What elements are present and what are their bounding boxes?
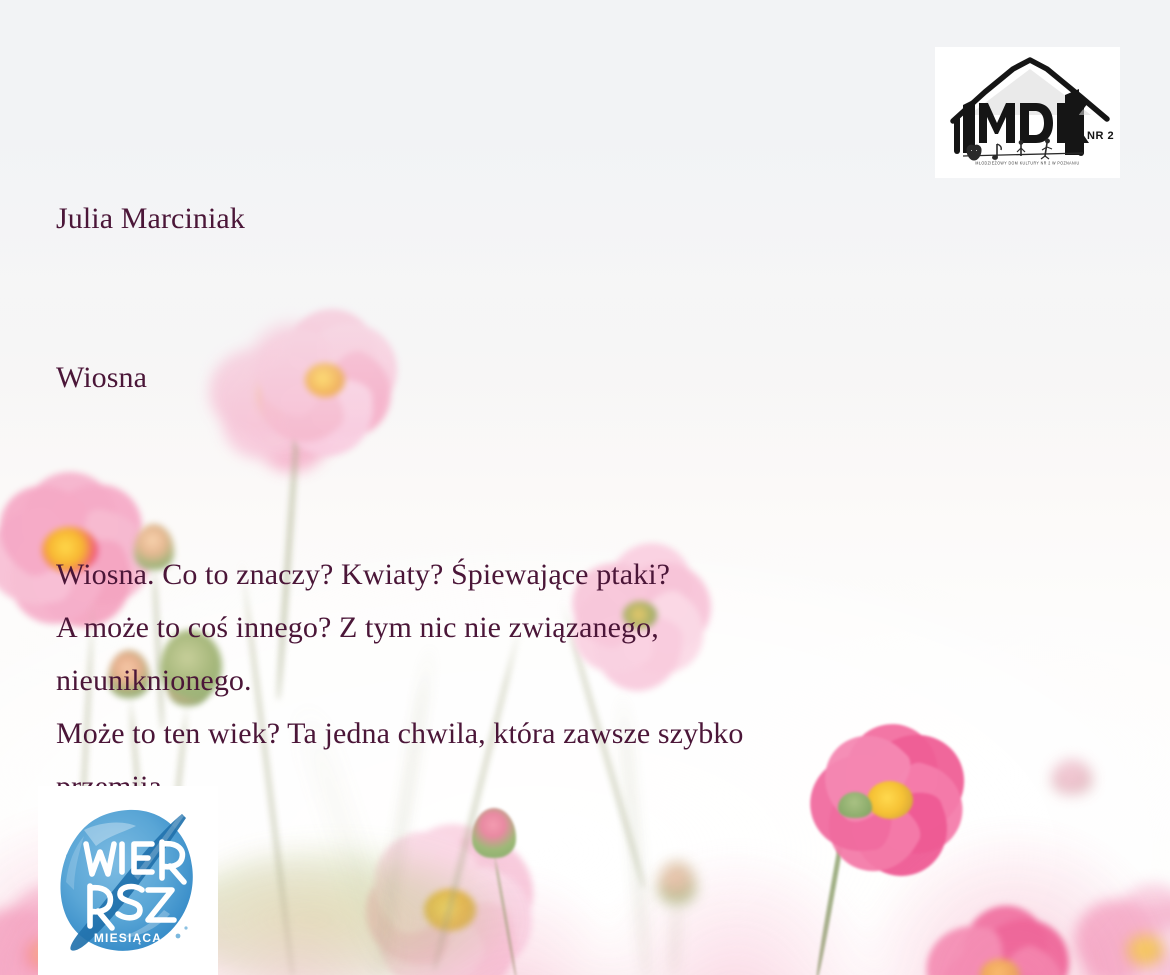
poem-text-block: Julia Marciniak Wiosna Wiosna. Co to zna… <box>56 86 936 813</box>
poem-body: Wiosna. Co to znaczy? Kwiaty? Śpiewające… <box>56 548 936 813</box>
wiersz-logo-icon: MIESIĄCA <box>38 786 218 975</box>
author-name: Julia Marciniak <box>56 192 936 245</box>
poem-title: Wiosna <box>56 351 936 404</box>
svg-text:NR 2: NR 2 <box>1087 130 1114 142</box>
mdk-subtitle: MŁODZIEŻOWY DOM KULTURY NR 2 W POZNANIU <box>935 161 1120 166</box>
dancer-icon <box>1041 139 1052 159</box>
theatre-mask-icon <box>967 145 981 160</box>
mdk-logo-icon: NR 2 <box>935 47 1120 178</box>
poem-line: A może to coś innego? Z tym nic nie zwią… <box>56 601 936 654</box>
poem-line: nieuniknionego. <box>56 654 936 707</box>
miesiaca-label: MIESIĄCA <box>94 931 162 945</box>
mdk-badge: NR 2 <box>1087 130 1114 142</box>
poem-poster: Julia Marciniak Wiosna Wiosna. Co to zna… <box>0 0 1170 975</box>
mdk-logo-card: NR 2 <box>935 47 1120 178</box>
poem-line: Wiosna. Co to znaczy? Kwiaty? Śpiewające… <box>56 548 936 601</box>
music-note-icon <box>993 144 1002 159</box>
poem-line: Może to ten wiek? Ta jedna chwila, która… <box>56 707 936 760</box>
wiersz-logo-card: MIESIĄCA WIERSZ MIESIĄCA <box>38 786 218 975</box>
byline: Julia Marciniak Wiosna <box>56 86 936 510</box>
